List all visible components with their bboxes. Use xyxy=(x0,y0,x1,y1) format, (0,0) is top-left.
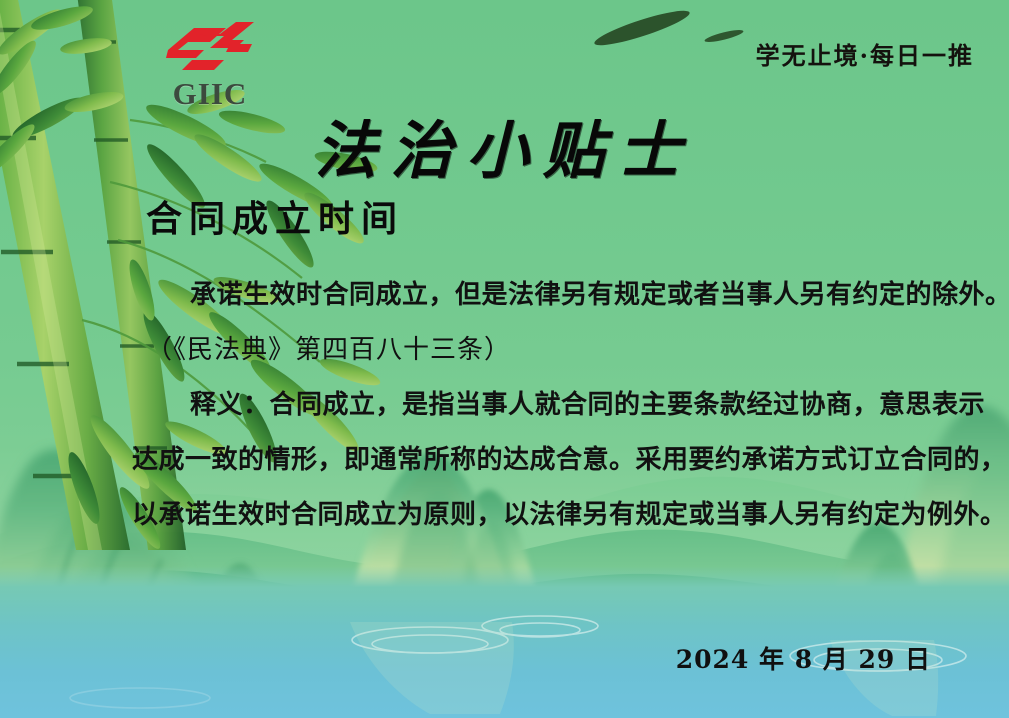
flying-leaves-icon xyxy=(580,0,780,70)
body-line: 以承诺生效时合同成立为原则，以法律另有规定或当事人另有约定为例外。 xyxy=(132,488,956,543)
publish-date: 2024 年 8 月 29 日 xyxy=(676,640,931,676)
water-ripples-icon xyxy=(0,548,1009,718)
brand-logo: GIIC xyxy=(150,22,270,109)
legal-tip-poster: GIIC 学无止境·每日一推 法治小贴士 合同成立时间 承诺生效时合同成立，但是… xyxy=(0,0,1009,718)
page-subtitle: 合同成立时间 xyxy=(146,190,404,242)
body-line: 释义：合同成立，是指当事人就合同的主要条款经过协商，意思表示 xyxy=(138,378,956,433)
slogan-text: 学无止境·每日一推 xyxy=(756,36,974,71)
giic-g-logo-icon xyxy=(162,22,258,76)
page-title: 法治小贴士 xyxy=(0,100,1009,190)
body-line: 承诺生效时合同成立，但是法律另有规定或者当事人另有约定的除外。 xyxy=(138,268,956,323)
body-line-citation: （《民法典》第四百八十三条） xyxy=(138,323,956,378)
body-text: 承诺生效时合同成立，但是法律另有规定或者当事人另有约定的除外。 （《民法典》第四… xyxy=(138,268,956,543)
body-line: 达成一致的情形，即通常所称的达成合意。采用要约承诺方式订立合同的， xyxy=(132,433,956,488)
